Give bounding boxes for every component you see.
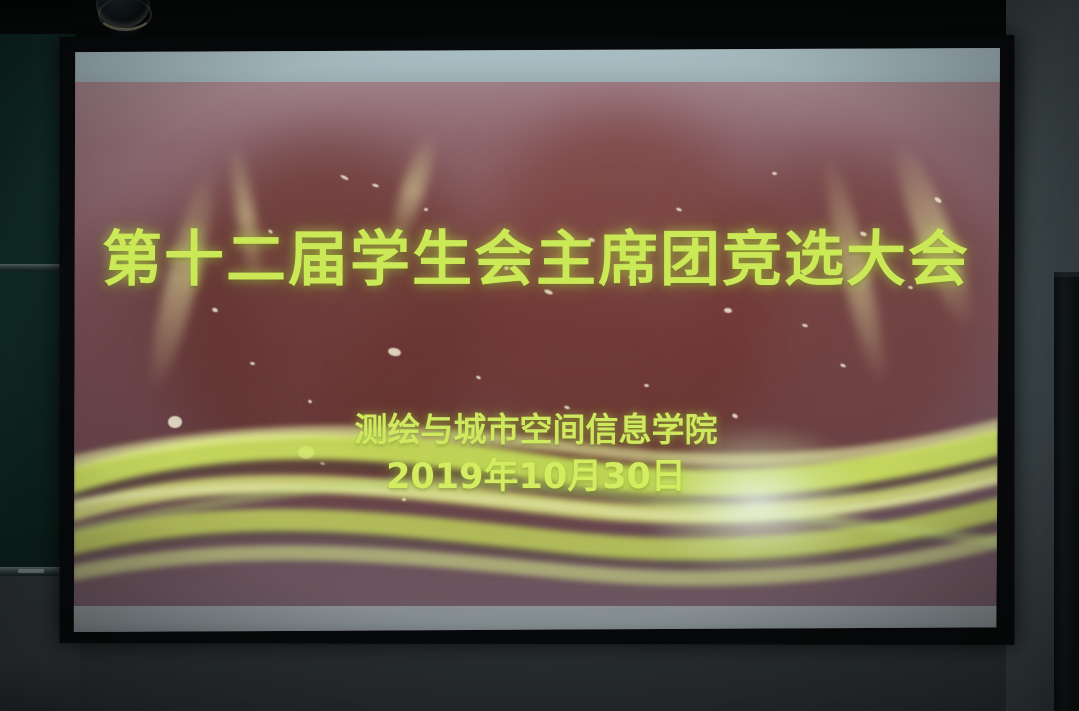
projection-screen: 第十二届学生会主席团竞选大会 测绘与城市空间信息学院 2019年10月30日 [72,48,1000,632]
slide-subtitle: 测绘与城市空间信息学院 [72,410,1000,450]
slide-date: 2019年10月30日 [72,456,1000,498]
slide-text-layer: 第十二届学生会主席团竞选大会 测绘与城市空间信息学院 2019年10月30日 [72,48,1000,632]
camera-ring [98,0,152,31]
slide-title: 第十二届学生会主席团竞选大会 [72,230,1000,290]
right-dark-panel [1054,272,1079,711]
chalk-piece [18,569,44,573]
classroom-scene: 第十二届学生会主席团竞选大会 测绘与城市空间信息学院 2019年10月30日 [0,0,1079,711]
dome-security-camera [92,0,154,34]
right-dark-panel-edge [1054,272,1079,277]
presentation-slide: 第十二届学生会主席团竞选大会 测绘与城市空间信息学院 2019年10月30日 [72,48,1000,632]
